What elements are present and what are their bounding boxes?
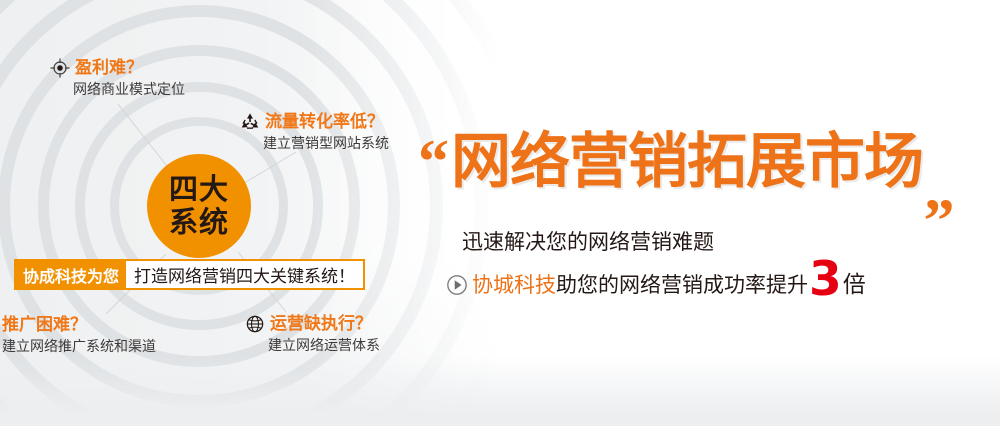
problem-item-profit-subtitle: 网络商业模式定位 — [73, 82, 185, 99]
recycle-icon — [240, 112, 260, 132]
hero-subline-1: 迅速解决您的网络营销难题 — [462, 226, 998, 256]
quote-open-icon: “ — [418, 136, 449, 189]
tagline-bar: 协成科技为您 打造网络营销四大关键系统！ — [14, 259, 365, 290]
problem-item-traffic-subtitle: 建立营销型网站系统 — [263, 136, 389, 153]
problem-item-promotion: 推广困难？ 建立网络推广系统和渠道 — [2, 316, 156, 355]
problem-item-profit-title: 盈利难？ — [75, 59, 143, 78]
hero-subline-2-text: 助您的网络营销成功率提升 — [556, 269, 808, 299]
center-badge: 四大 系统 — [147, 154, 251, 258]
hero-headline-row: “ 网络营销拓展市场 „ — [418, 132, 998, 224]
problem-item-promotion-head: 推广困难？ — [2, 316, 156, 335]
tagline-bar-highlight: 协成科技为您 — [16, 261, 126, 288]
hero-subline-2: 协城科技 助您的网络营销成功率提升 3 倍 — [446, 258, 998, 299]
problem-item-promotion-subtitle: 建立网络推广系统和渠道 — [2, 339, 156, 356]
marketing-banner: 四大 系统 盈利难？ 网络商业模式定位 — [0, 0, 1000, 426]
play-circle-icon — [446, 274, 468, 296]
problem-item-traffic: 流量转化率低？ 建立营销型网站系统 — [240, 112, 389, 153]
problem-item-profit: 盈利难？ 网络商业模式定位 — [50, 58, 185, 99]
problem-item-operation: 运营缺执行？ 建立网络运营体系 — [245, 314, 380, 355]
target-crosshair-icon — [50, 58, 70, 78]
hero-multiplier-unit: 倍 — [843, 265, 866, 299]
hero-block: “ 网络营销拓展市场 „ 迅速解决您的网络营销难题 协城科技 助您的网络营销成功… — [418, 132, 998, 312]
tagline-bar-text: 打造网络营销四大关键系统！ — [126, 261, 363, 288]
problem-item-operation-head: 运营缺执行？ — [245, 314, 380, 334]
problem-item-profit-head: 盈利难？ — [50, 58, 185, 78]
hero-multiplier-number: 3 — [809, 261, 842, 299]
problem-item-operation-title: 运营缺执行？ — [270, 315, 372, 334]
problem-item-operation-subtitle: 建立网络运营体系 — [268, 338, 380, 355]
hero-brand-name: 协城科技 — [472, 269, 556, 299]
quote-close-icon: „ — [924, 163, 955, 216]
center-badge-line-2: 系统 — [169, 208, 229, 237]
problem-item-traffic-head: 流量转化率低？ — [240, 112, 389, 132]
center-badge-line-1: 四大 — [169, 175, 229, 204]
problem-item-promotion-title: 推广困难？ — [2, 316, 87, 335]
globe-icon — [245, 314, 265, 334]
hero-headline: 网络营销拓展市场 — [451, 132, 923, 192]
problem-item-traffic-title: 流量转化率低？ — [265, 113, 384, 132]
